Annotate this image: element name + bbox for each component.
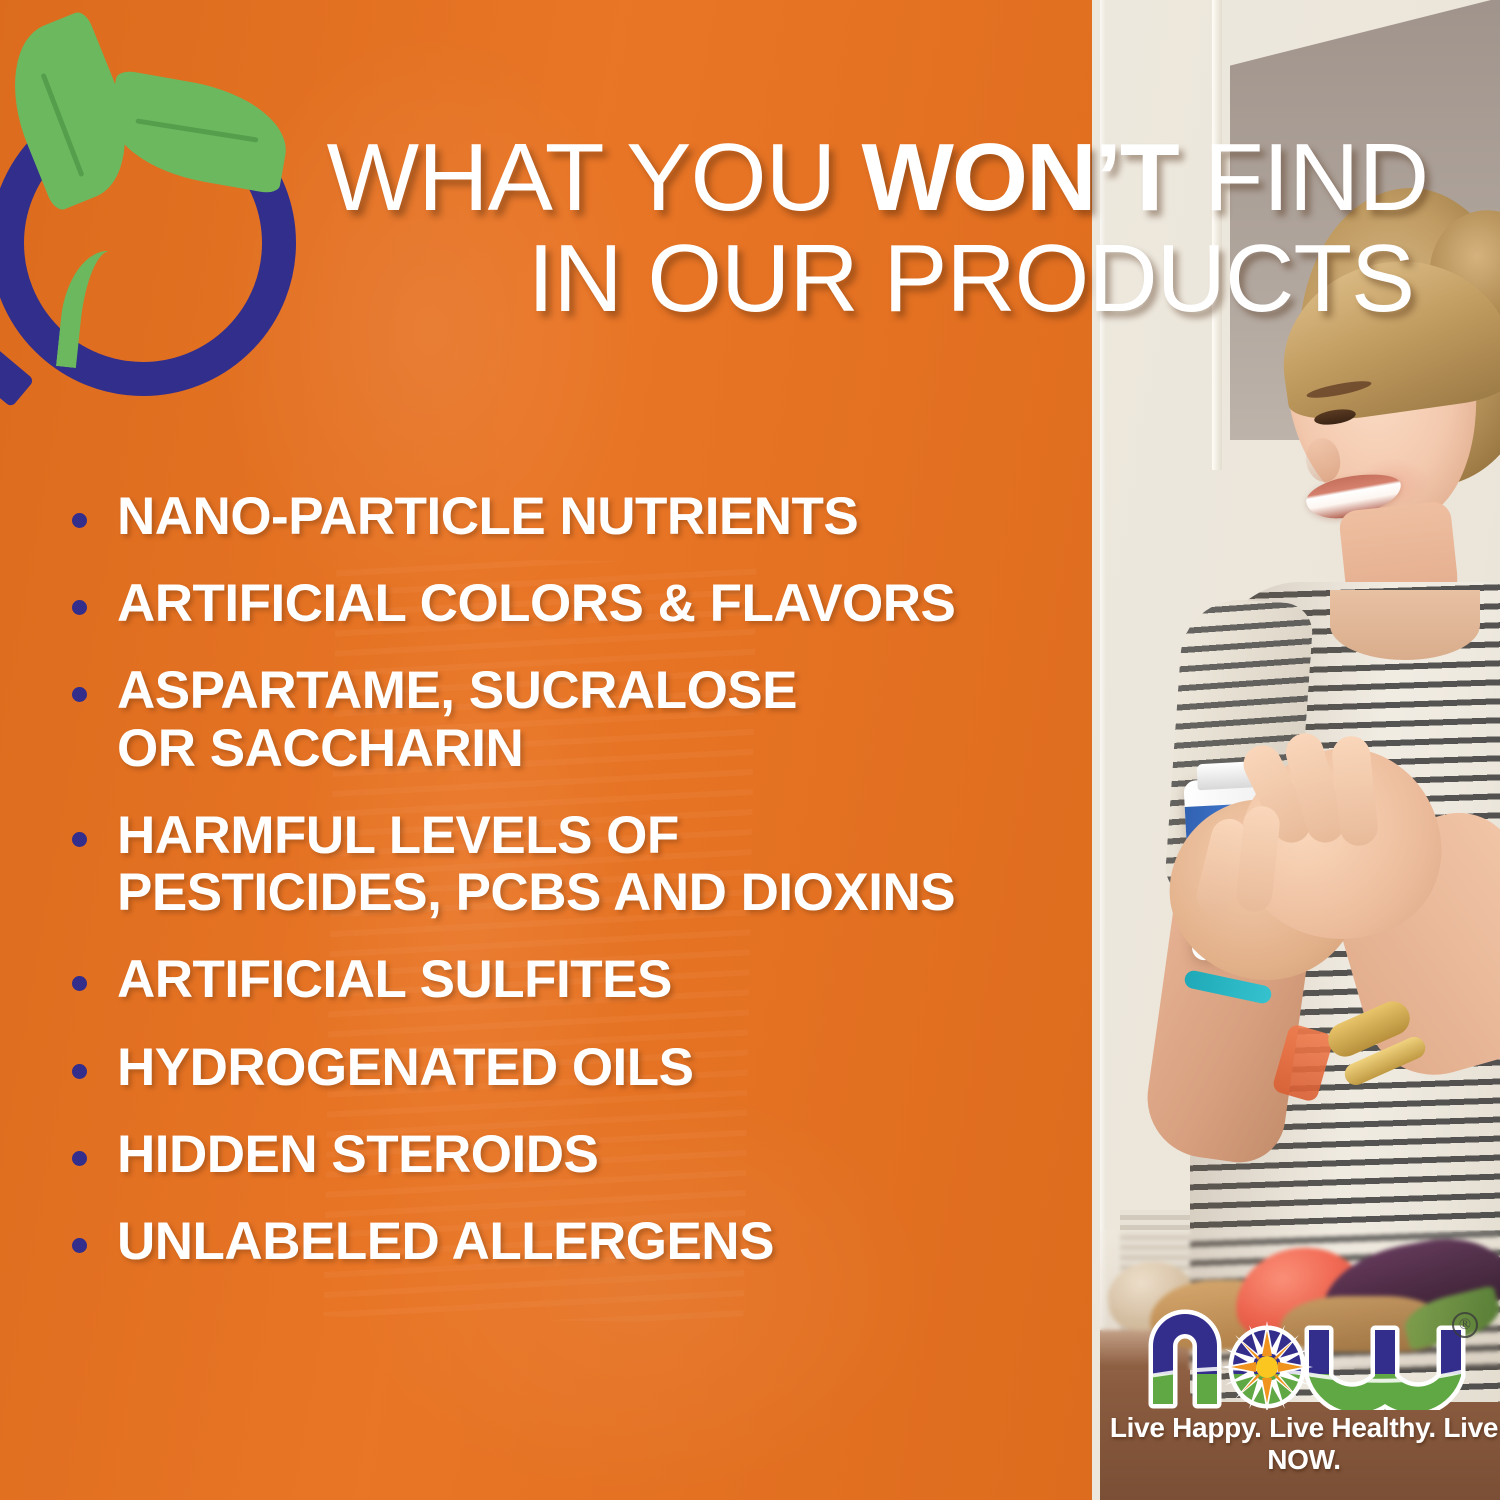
bullet-dot-icon — [72, 1238, 87, 1253]
headline-line-2: IN OUR PRODUCTS — [0, 233, 1414, 324]
list-item: ASPARTAME, SUCRALOSE OR SACCHARIN — [72, 662, 1072, 776]
headline-emphasis-wont: WON’T — [861, 124, 1177, 231]
now-logo-mark — [1139, 1300, 1469, 1410]
list-item: HIDDEN STEROIDS — [72, 1126, 1072, 1183]
list-item-label: ASPARTAME, SUCRALOSE OR SACCHARIN — [117, 662, 797, 776]
list-item: NANO-PARTICLE NUTRIENTS — [72, 488, 1072, 545]
woman-figure — [1130, 170, 1500, 1370]
list-item-label: ARTIFICIAL SULFITES — [117, 951, 672, 1008]
bullet-dot-icon — [72, 976, 87, 991]
bullet-dot-icon — [72, 1151, 87, 1166]
list-item-label: NANO-PARTICLE NUTRIENTS — [117, 488, 858, 545]
bullet-dot-icon — [72, 832, 87, 847]
headline: WHAT YOU WON’T FIND IN OUR PRODUCTS — [0, 132, 1452, 324]
list-item: HYDROGENATED OILS — [72, 1039, 1072, 1096]
headline-line1-part1: WHAT YOU — [327, 124, 862, 231]
bullet-dot-icon — [72, 687, 87, 702]
list-item: UNLABELED ALLERGENS — [72, 1213, 1072, 1270]
brand-tagline: Live Happy. Live Healthy. Live NOW. — [1108, 1412, 1500, 1476]
bullet-dot-icon — [72, 1064, 87, 1079]
excluded-ingredients-list: NANO-PARTICLE NUTRIENTS ARTIFICIAL COLOR… — [72, 488, 1072, 1300]
registered-trademark-icon: ® — [1452, 1312, 1478, 1338]
list-item: ARTIFICIAL SULFITES — [72, 951, 1072, 1008]
bullet-dot-icon — [72, 513, 87, 528]
list-item-label: HYDROGENATED OILS — [117, 1039, 694, 1096]
shirt-collar — [1330, 590, 1480, 660]
list-item-label: ARTIFICIAL COLORS & FLAVORS — [117, 575, 955, 632]
list-item: ARTIFICIAL COLORS & FLAVORS — [72, 575, 1072, 632]
logo-green-hill — [1139, 1374, 1469, 1410]
bullet-dot-icon — [72, 600, 87, 615]
list-item-label: HIDDEN STEROIDS — [117, 1126, 598, 1183]
now-brand-logo: ® Live Happy. Live Healthy. Live NOW. — [1108, 1300, 1500, 1468]
list-item-label: UNLABELED ALLERGENS — [117, 1213, 774, 1270]
list-item-label: HARMFUL LEVELS OF PESTICIDES, PCBS AND D… — [117, 807, 955, 921]
headline-line1-part3: FIND — [1178, 124, 1429, 231]
promotional-poster: WHAT YOU WON’T FIND IN OUR PRODUCTS NANO… — [0, 0, 1500, 1500]
starburst-sun-icon — [1221, 1321, 1313, 1410]
headline-line-1: WHAT YOU WON’T FIND — [0, 132, 1428, 223]
list-item: HARMFUL LEVELS OF PESTICIDES, PCBS AND D… — [72, 807, 1072, 921]
